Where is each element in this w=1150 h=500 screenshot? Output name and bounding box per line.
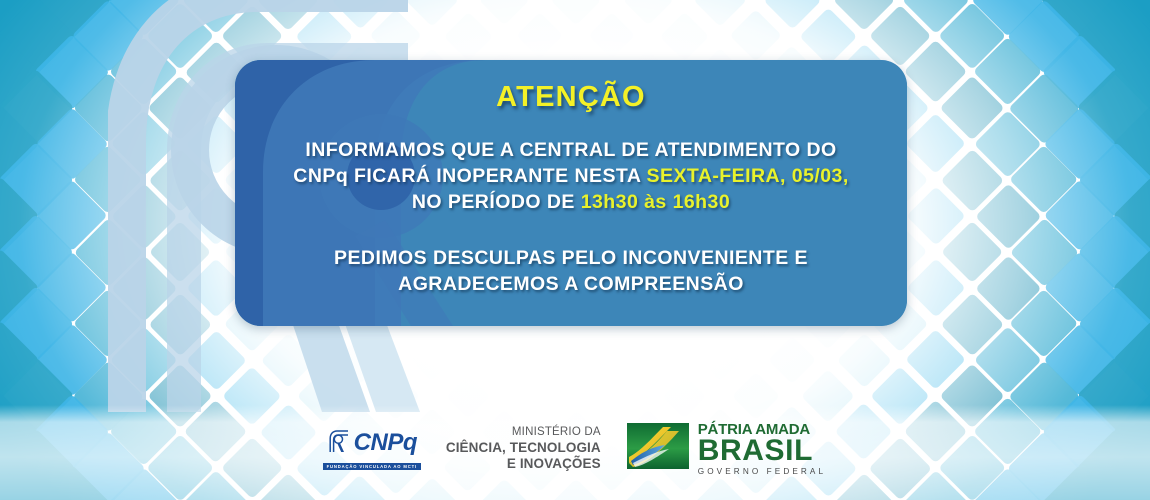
notice-line-1: INFORMAMOS QUE A CENTRAL DE ATENDIMENTO … <box>305 139 836 161</box>
background-diamond <box>405 477 459 500</box>
footer-logo-strip: CNPq FUNDAÇÃO VINCULADA AO MCTI MINISTÉR… <box>0 418 1150 480</box>
cnpq-logo: CNPq FUNDAÇÃO VINCULADA AO MCTI <box>324 428 420 471</box>
background-diamond <box>478 0 530 26</box>
background-diamond <box>659 11 708 60</box>
brasil-logo: PÁTRIA AMADA BRASIL GOVERNO FEDERAL <box>627 422 826 476</box>
background-diamond <box>551 0 602 25</box>
brasil-line-2: BRASIL <box>698 436 826 466</box>
background-diamond <box>443 11 492 60</box>
background-diamond <box>622 478 674 500</box>
notice-paragraph-2: PEDIMOS DESCULPAS PELO INCONVENIENTE E A… <box>334 246 808 298</box>
notice-line-2-prefix: CNPq FICARÁ INOPERANTE NESTA <box>293 165 646 187</box>
background-diamond <box>446 374 489 417</box>
cnpq-wordmark: CNPq <box>354 431 417 455</box>
brasil-line-3: GOVERNO FEDERAL <box>698 468 826 476</box>
background-diamond <box>370 10 423 63</box>
background-diamond <box>768 336 817 385</box>
background-diamond <box>478 478 530 500</box>
background-diamond <box>297 369 350 422</box>
background-diamond <box>662 374 705 417</box>
background-diamond <box>693 0 747 27</box>
background-diamond <box>516 12 563 59</box>
background-diamond <box>372 372 420 420</box>
apology-line-2: AGRADECEMOS A COMPREENSÃO <box>398 273 744 295</box>
notice-card: ATENÇÃO INFORMAMOS QUE A CENTRAL DE ATEN… <box>235 60 907 326</box>
background-diamond <box>261 333 315 387</box>
ministry-line-1: MINISTÉRIO DA <box>446 426 601 439</box>
background-diamond <box>730 10 783 63</box>
apology-line-1: PEDIMOS DESCULPAS PELO INCONVENIENTE E <box>334 247 808 269</box>
brazil-flag-emblem-icon <box>627 423 689 474</box>
ministry-line-2: CIÊNCIA, TECNOLOGIA <box>446 440 601 456</box>
notice-paragraph-1: INFORMAMOS QUE A CENTRAL DE ATENDIMENTO … <box>293 138 848 216</box>
background-diamond <box>588 12 635 59</box>
background-diamond <box>405 0 459 27</box>
cnpq-notice-banner: ATENÇÃO INFORMAMOS QUE A CENTRAL DE ATEN… <box>0 0 1150 500</box>
card-headline: ATENÇÃO <box>496 83 646 112</box>
background-diamond <box>801 369 854 422</box>
background-diamond <box>699 339 742 382</box>
notice-line-2-highlight: SEXTA-FEIRA, 05/03, <box>647 165 849 187</box>
notice-line-3-prefix: NO PERÍODO DE <box>412 191 581 213</box>
background-diamond <box>411 339 454 382</box>
ministry-logo: MINISTÉRIO DA CIÊNCIA, TECNOLOGIA E INOV… <box>446 426 601 471</box>
notice-line-3-highlight: 13h30 às 16h30 <box>581 191 730 213</box>
background-diamond <box>837 333 892 388</box>
background-diamond <box>693 477 747 500</box>
background-diamond <box>732 372 780 420</box>
cnpq-tagline: FUNDAÇÃO VINCULADA AO MCTI <box>323 463 421 471</box>
ministry-line-3: E INOVAÇÕES <box>446 456 601 472</box>
background-diamond <box>295 7 352 64</box>
background-diamond <box>550 478 601 500</box>
cnpq-head-icon <box>327 428 351 459</box>
background-diamond <box>336 336 384 384</box>
background-diamond <box>622 0 674 26</box>
